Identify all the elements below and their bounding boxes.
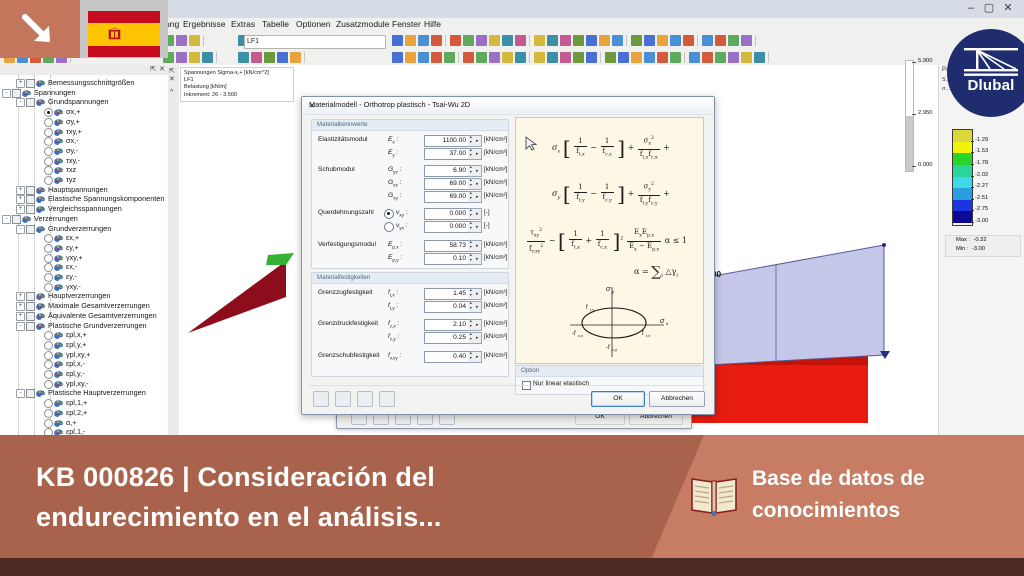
color-palette-icon [54, 380, 63, 387]
color-palette-icon [36, 205, 45, 212]
field-symbol: Ex : [388, 136, 398, 144]
toolbar-separator [755, 35, 756, 46]
color-palette-icon [54, 244, 63, 251]
dialog-titlebar: Materialmodell - Orthotrop plastisch - T… [302, 97, 714, 115]
tree-expander-icon[interactable]: - [2, 89, 11, 98]
legend-value: -1.53 [975, 148, 988, 154]
tree-checkbox[interactable] [26, 389, 35, 398]
kb-banner: KB 000826 | Consideración del endurecimi… [0, 435, 1024, 576]
banner-corner-accent [0, 0, 80, 58]
legend-tick [971, 210, 974, 211]
picker-button[interactable] [475, 301, 482, 313]
toolbar-button[interactable] [670, 52, 681, 63]
tree-radio[interactable] [44, 118, 53, 127]
toolbar-button[interactable] [476, 35, 487, 46]
color-palette-icon [36, 186, 45, 193]
field-value: 58.73 [425, 241, 469, 251]
field-input[interactable]: 1100.00 [424, 135, 470, 147]
field-unit: [kN/cm²] [484, 241, 507, 248]
toolbar-button[interactable] [418, 35, 429, 46]
field-input[interactable]: 2.10 [424, 319, 470, 331]
toolbar-button[interactable] [238, 52, 249, 63]
field-symbol: Ey : [388, 149, 398, 157]
color-palette-icon [36, 225, 45, 232]
menu-item-tabelle[interactable]: Tabelle [262, 19, 289, 29]
tree-checkbox[interactable] [12, 89, 21, 98]
toolbar-button[interactable] [534, 35, 545, 46]
color-palette-icon [54, 399, 63, 406]
field-value: 69.00 [425, 192, 469, 202]
toolbar-button[interactable] [189, 52, 200, 63]
toolbar-button[interactable] [251, 52, 262, 63]
field-label: Verfestigungsmodul [318, 241, 376, 248]
toolbar-button[interactable] [444, 52, 455, 63]
kb-banner-title: KB 000826 | Consideración del endurecimi… [36, 457, 616, 537]
color-palette-icon [54, 176, 63, 183]
tree-expander-icon[interactable]: - [2, 215, 11, 224]
svg-text:t,x: t,x [646, 333, 650, 338]
field-label: Elastizitätsmodul [318, 136, 367, 143]
ok-button[interactable]: OK [591, 391, 645, 407]
field-unit: [kN/cm²] [484, 192, 507, 199]
color-palette-icon [54, 360, 63, 367]
field-input[interactable]: 0.25 [424, 332, 470, 344]
toolbar-button[interactable] [631, 52, 642, 63]
tree-radio[interactable] [44, 128, 53, 137]
tree-expander-icon[interactable]: - [16, 98, 25, 107]
toolbar-separator [458, 52, 459, 63]
legend-value: -2.75 [975, 206, 988, 212]
tree-radio[interactable] [44, 399, 53, 408]
field-input[interactable]: 0.40 [424, 351, 470, 363]
toolbar-separator [216, 52, 217, 63]
flag-backdrop [80, 0, 168, 58]
dlubal-wordmark: Dlubal [947, 77, 1024, 94]
color-palette-icon [54, 118, 63, 125]
color-legend [952, 129, 973, 226]
tree-radio[interactable] [44, 409, 53, 418]
field-unit: [kN/cm²] [484, 320, 507, 327]
group-material-values-header: Materialkennwerte [312, 120, 508, 131]
field-input[interactable]: 69.00 [424, 178, 470, 190]
toolbar-button[interactable] [573, 52, 584, 63]
toolbar-separator [600, 52, 601, 63]
legend-value: -1.78 [975, 160, 988, 166]
field-input[interactable]: 69.00 [424, 191, 470, 203]
toolbar-button[interactable] [618, 52, 629, 63]
tree-item-label: εpl,1,- [66, 426, 85, 435]
toolbar-button[interactable] [715, 52, 726, 63]
tree-checkbox[interactable] [12, 215, 21, 224]
toolbar-button[interactable] [176, 35, 187, 46]
close-icon[interactable]: ✕ [159, 65, 165, 73]
svg-text:t,y: t,y [590, 307, 594, 312]
legend-swatch [953, 142, 972, 154]
tree-radio[interactable] [44, 341, 53, 350]
menu-item-zusatzmodule[interactable]: Zusatzmodule [336, 19, 389, 29]
field-symbol: Gyz : [388, 166, 401, 174]
toolbar-button[interactable] [392, 35, 403, 46]
color-palette-icon [54, 234, 63, 241]
tree-expander-icon[interactable]: + [16, 312, 25, 321]
tree-radio[interactable] [44, 360, 53, 369]
menu-item-hilfe[interactable]: Hilfe [424, 19, 441, 29]
picker-button[interactable] [475, 253, 482, 265]
field-value: 0.10 [425, 254, 469, 264]
legend-swatch [953, 200, 972, 212]
window-minimize-icon[interactable]: – [964, 2, 978, 14]
legend-value: -2.02 [975, 172, 988, 178]
legend-tick [971, 187, 974, 188]
field-unit: [kN/cm²] [484, 179, 507, 186]
toolbar-button[interactable] [290, 52, 301, 63]
toolbar-button[interactable] [631, 35, 642, 46]
tree-checkbox[interactable] [26, 195, 35, 204]
color-palette-icon [54, 254, 63, 261]
tree-expander-icon[interactable]: - [16, 389, 25, 398]
toolbar-button[interactable] [202, 52, 213, 63]
color-palette-icon [22, 89, 31, 96]
poisson-radio[interactable] [384, 222, 394, 232]
field-unit: [kN/cm²] [484, 254, 507, 261]
field-unit: [kN/cm²] [484, 136, 507, 143]
poisson-radio[interactable] [384, 209, 394, 219]
tree-radio[interactable] [44, 137, 53, 146]
toolbar-button[interactable] [657, 52, 668, 63]
toolbar-button[interactable] [741, 35, 752, 46]
color-palette-icon [54, 157, 63, 164]
legend-swatch [953, 130, 972, 142]
tree-radio[interactable] [44, 244, 53, 253]
toolbar-separator [529, 52, 530, 63]
field-input[interactable]: 0.04 [424, 301, 470, 313]
toolbar-button[interactable] [573, 35, 584, 46]
field-value: 6.90 [425, 166, 469, 176]
menu-item-fenster[interactable]: Fenster [392, 19, 421, 29]
toolbar-button[interactable] [502, 35, 513, 46]
increment-scale-bar[interactable] [905, 60, 914, 172]
color-palette-icon [54, 331, 63, 338]
tree-checkbox[interactable] [26, 98, 35, 107]
field-input[interactable]: 58.73 [424, 240, 470, 252]
picker-button[interactable] [475, 135, 482, 147]
tree-checkbox[interactable] [26, 322, 35, 331]
field-unit: [kN/cm²] [484, 352, 507, 359]
toolbar-button[interactable] [715, 35, 726, 46]
field-input[interactable]: 0.000 [424, 221, 470, 233]
toolbar-separator [529, 35, 530, 46]
toolbar-button[interactable] [547, 52, 558, 63]
toolbar-button[interactable] [754, 52, 765, 63]
color-palette-icon [54, 263, 63, 270]
picker-button[interactable] [475, 165, 482, 177]
legend-value: -2.27 [975, 183, 988, 189]
toolbar-button[interactable] [644, 35, 655, 46]
tree-expander-icon[interactable]: + [16, 79, 25, 88]
toolbar-button[interactable] [741, 52, 752, 63]
toolbar-separator [203, 35, 204, 46]
tree-radio[interactable] [44, 428, 53, 435]
tree-radio[interactable] [44, 370, 53, 379]
color-palette-icon [54, 341, 63, 348]
toolbar-button[interactable] [515, 52, 526, 63]
kb-banner-bottom-strip [0, 558, 1024, 576]
toolbar-button[interactable] [586, 52, 597, 63]
max-value: -0.32 [973, 237, 986, 243]
toolbar-button[interactable] [683, 35, 694, 46]
field-input[interactable]: 1.45 [424, 288, 470, 300]
picker-button[interactable] [475, 178, 482, 190]
svg-text:f: f [586, 305, 588, 311]
svg-text:-f: -f [572, 331, 576, 337]
navigator-results-tree[interactable]: ⇱ ✕ +Bemessungsschnittgrößen-Spannungen-… [0, 65, 169, 435]
picker-button[interactable] [475, 319, 482, 331]
color-palette-icon [54, 273, 63, 280]
menu-item-extras[interactable]: Extras [231, 19, 255, 29]
toolbar-button[interactable] [728, 35, 739, 46]
field-value: 0.000 [425, 222, 469, 232]
load-case-combo[interactable]: LF1 [244, 35, 386, 49]
toolbar-button[interactable] [560, 35, 571, 46]
picker-button[interactable] [475, 208, 482, 220]
color-palette-icon [36, 302, 45, 309]
screenshot-root: – ▢ ✕ ...ung Ergebnisse Extras Tabelle O… [0, 0, 1024, 576]
field-symbol: νxy : [396, 209, 408, 217]
legend-swatch [953, 153, 972, 165]
toolbar-button[interactable] [515, 35, 526, 46]
pin-icon[interactable]: ⇱ [150, 65, 156, 73]
color-palette-icon [54, 108, 63, 115]
color-palette-icon [54, 419, 63, 426]
color-palette-icon [54, 166, 63, 173]
toolbar-button[interactable] [657, 35, 668, 46]
field-label: Schubmodul [318, 166, 355, 173]
toolbar-button[interactable] [644, 52, 655, 63]
field-label: Grenzschubfestigkeit [318, 352, 380, 359]
group-material-strengths-header: Materialfestigkeiten [312, 273, 508, 284]
legend-tick [971, 222, 974, 223]
spain-flag-icon [88, 11, 160, 57]
toolbar-button[interactable] [176, 52, 187, 63]
tree-radio[interactable] [44, 331, 53, 340]
field-unit: [kN/cm²] [484, 289, 507, 296]
svg-text:σ: σ [660, 318, 665, 325]
navigator-header: ⇱ ✕ [0, 65, 168, 75]
tsai-wu-ellipse-diagram: σy σx ft,y ft,x -fc,x -fc,y [556, 283, 676, 359]
toolbar-button[interactable] [670, 35, 681, 46]
cursor-pointer-icon [524, 136, 540, 152]
picker-button[interactable] [475, 332, 482, 344]
field-symbol: Gxz : [388, 179, 401, 187]
increment-scale-fill [906, 116, 913, 171]
svg-text:c,y: c,y [612, 347, 617, 352]
tree-radio[interactable] [44, 108, 53, 117]
field-symbol: fc,y : [388, 333, 399, 341]
tree-checkbox[interactable] [26, 225, 35, 234]
field-input[interactable]: 0.000 [424, 208, 470, 220]
field-symbol: Gxy : [388, 192, 401, 200]
table-icon[interactable] [335, 391, 351, 407]
color-palette-icon [54, 370, 63, 377]
toolbar-button[interactable] [418, 52, 429, 63]
tree-expander-icon[interactable]: + [16, 302, 25, 311]
window-maximize-icon[interactable]: ▢ [982, 2, 996, 14]
field-input[interactable]: 6.90 [424, 165, 470, 177]
color-palette-icon [36, 292, 45, 299]
field-label: Grenzdruckfestigkeit [318, 320, 378, 327]
toolbar-button[interactable] [605, 52, 616, 63]
folder-icon[interactable] [357, 391, 373, 407]
legend-tick [971, 152, 974, 153]
toolbar-button[interactable] [431, 35, 442, 46]
toolbar-separator [304, 52, 305, 63]
legend-value: -3.00 [975, 218, 988, 224]
toolbar-button[interactable] [264, 52, 275, 63]
toolbar-button[interactable] [586, 35, 597, 46]
toolbar-button[interactable] [547, 35, 558, 46]
open-book-icon [690, 475, 738, 517]
svg-text:f: f [642, 331, 644, 337]
toolbar-button[interactable] [450, 35, 461, 46]
tree-expander-icon[interactable]: - [16, 322, 25, 331]
tree-item-label: Plastische Grundverzerrungen [48, 320, 147, 331]
color-palette-icon [36, 195, 45, 202]
toolbar-button[interactable] [728, 52, 739, 63]
toolbar-button[interactable] [277, 52, 288, 63]
field-input[interactable]: 0.10 [424, 253, 470, 265]
rfem-application-window: – ▢ ✕ ...ung Ergebnisse Extras Tabelle O… [0, 0, 1024, 435]
field-unit: [kN/cm²] [484, 166, 507, 173]
tree-radio[interactable] [44, 273, 53, 282]
svg-text:x: x [666, 321, 669, 326]
picker-button[interactable] [475, 288, 482, 300]
toolbar-separator [768, 52, 769, 63]
save-icon[interactable] [379, 391, 395, 407]
max-label: Max : [956, 237, 970, 243]
field-value: 0.000 [425, 209, 469, 219]
toolbar-button[interactable] [502, 52, 513, 63]
legend-value: -1.29 [975, 137, 988, 143]
field-unit: [kN/cm²] [484, 149, 507, 156]
color-palette-icon [36, 312, 45, 319]
toolbar-button[interactable] [702, 35, 713, 46]
tree-checkbox[interactable] [26, 186, 35, 195]
toolbar-button[interactable] [702, 52, 713, 63]
picker-button[interactable] [475, 351, 482, 363]
field-input[interactable]: 37.00 [424, 148, 470, 160]
field-unit: [kN/cm²] [484, 302, 507, 309]
tree-radio[interactable] [44, 147, 53, 156]
field-label: Querdehnungszahl [318, 209, 374, 216]
toolbar-button[interactable] [476, 52, 487, 63]
tree-radio[interactable] [44, 351, 53, 360]
tree-checkbox[interactable] [26, 292, 35, 301]
results-panel: Panel S... σ... -1.29-1.53-1.78-2.02-2.2… [938, 65, 1024, 435]
legend-swatch [953, 165, 972, 177]
field-symbol: fv,xy : [388, 352, 401, 360]
legend-swatch [953, 211, 972, 223]
arrow-down-right-icon [22, 14, 56, 48]
legend-tick [971, 164, 974, 165]
toolbar-button[interactable] [392, 52, 403, 63]
legend-tick [971, 141, 974, 142]
field-value: 2.10 [425, 320, 469, 330]
tree-radio[interactable] [44, 254, 53, 263]
tree-radio[interactable] [44, 234, 53, 243]
toolbar-button[interactable] [431, 52, 442, 63]
color-palette-icon [36, 322, 45, 329]
material-model-dialog[interactable]: Materialmodell - Orthotrop plastisch - T… [301, 96, 715, 415]
field-value: 1100.00 [425, 136, 469, 146]
field-value: 0.04 [425, 302, 469, 312]
field-value: 69.00 [425, 179, 469, 189]
field-unit: [-] [484, 209, 490, 216]
field-symbol: Ep,y : [388, 254, 402, 262]
svg-text:σ: σ [606, 286, 611, 293]
tree-checkbox[interactable] [26, 302, 35, 311]
color-palette-icon [54, 128, 63, 135]
field-symbol: νyx : [396, 222, 408, 230]
toolbar-button[interactable] [599, 35, 610, 46]
tree-expander-icon[interactable]: - [16, 225, 25, 234]
picker-button[interactable] [475, 240, 482, 252]
toolbar-button[interactable] [489, 35, 500, 46]
toolbar-separator [626, 35, 627, 46]
toolbar-button[interactable] [612, 35, 623, 46]
dialog-footer: OK Abbrechen [309, 385, 707, 410]
tree-expander-icon[interactable]: + [16, 186, 25, 195]
legend-tick [971, 199, 974, 200]
tree-expander-icon[interactable]: + [16, 292, 25, 301]
toolbar-button[interactable] [560, 52, 571, 63]
cancel-button[interactable]: Abbrechen [649, 391, 705, 407]
picker-button[interactable] [475, 191, 482, 203]
toolbar-button[interactable] [689, 52, 700, 63]
window-close-icon[interactable]: ✕ [1001, 2, 1015, 14]
color-palette-icon [54, 351, 63, 358]
toolbar-button[interactable] [405, 52, 416, 63]
tree-radio[interactable] [44, 157, 53, 166]
tree-radio[interactable] [44, 166, 53, 175]
tree-radio[interactable] [44, 263, 53, 272]
load-case-combo-value: LF1 [245, 36, 385, 48]
svg-text:-f: -f [606, 345, 610, 351]
toolbar-button[interactable] [463, 52, 474, 63]
tree-expander-icon[interactable]: + [16, 205, 25, 214]
tree-expander-icon[interactable]: + [16, 195, 25, 204]
toolbar-button[interactable] [463, 35, 474, 46]
picker-button[interactable] [475, 221, 482, 233]
picker-button[interactable] [475, 148, 482, 160]
menu-item-optionen[interactable]: Optionen [296, 19, 331, 29]
toolbar-button[interactable] [405, 35, 416, 46]
dlubal-frame-icon [964, 47, 1018, 77]
toolbar-button[interactable] [534, 52, 545, 63]
toolbar-button[interactable] [189, 35, 200, 46]
legend-swatch [953, 177, 972, 189]
color-palette-icon [36, 79, 45, 86]
tree-checkbox[interactable] [26, 312, 35, 321]
dialog-close-icon[interactable]: ✕ [309, 100, 708, 111]
toolbar-button[interactable] [489, 52, 500, 63]
tree-radio[interactable] [44, 419, 53, 428]
field-symbol: Ep,x : [388, 241, 402, 249]
help-icon[interactable] [313, 391, 329, 407]
menu-item-ergebnisse[interactable]: Ergebnisse [183, 19, 226, 29]
field-unit: [-] [484, 222, 490, 229]
group-material-strengths: Materialfestigkeiten Grenzzugfestigkeitf… [311, 272, 509, 377]
criterion-formula-panel: σx [ 1ft,x − 1fc,x ] + σx2ft,xfc,x + σy … [515, 117, 704, 364]
